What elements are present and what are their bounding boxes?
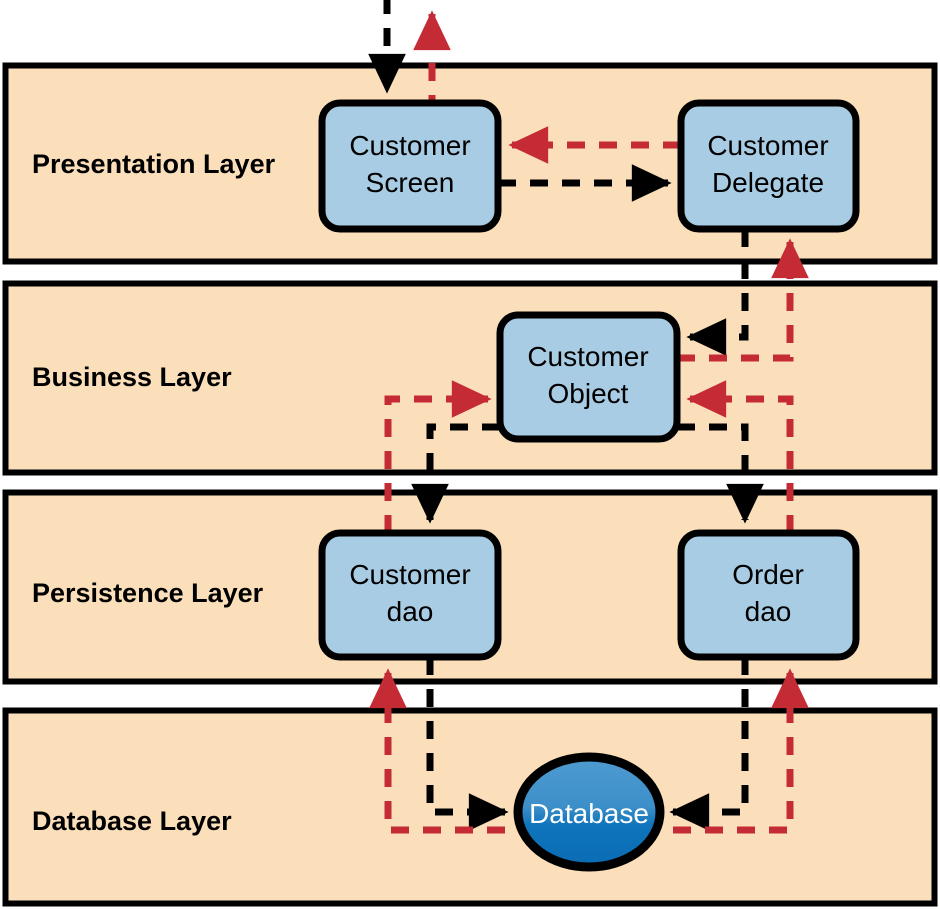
layer-label-persistence: Persistence Layer: [32, 578, 264, 608]
node-label-order-dao-line1: Order: [732, 559, 804, 590]
node-customer-object[interactable]: Customer Object: [500, 315, 677, 439]
node-label-customer-dao-line2: dao: [387, 596, 434, 627]
layered-architecture-diagram: Presentation Layer Business Layer Persis…: [0, 0, 940, 909]
node-label-customer-object-line2: Object: [548, 378, 629, 409]
node-customer-dao[interactable]: Customer dao: [322, 533, 498, 657]
node-order-dao[interactable]: Order dao: [681, 533, 856, 657]
node-customer-delegate[interactable]: Customer Delegate: [681, 103, 856, 229]
node-label-customer-screen-line1: Customer: [349, 130, 470, 161]
node-label-customer-object-line1: Customer: [527, 341, 648, 372]
node-label-customer-dao-line1: Customer: [349, 559, 470, 590]
layer-database[interactable]: Database Layer: [6, 711, 935, 904]
node-label-order-dao-line2: dao: [745, 596, 792, 627]
layer-business[interactable]: Business Layer: [6, 284, 935, 473]
diagram-canvas: Presentation Layer Business Layer Persis…: [0, 0, 940, 909]
node-label-customer-delegate-line1: Customer: [707, 130, 828, 161]
node-label-database: Database: [529, 798, 649, 829]
node-customer-screen[interactable]: Customer Screen: [322, 103, 498, 229]
layer-label-presentation: Presentation Layer: [32, 149, 276, 179]
layer-label-database: Database Layer: [32, 806, 232, 836]
node-label-customer-screen-line2: Screen: [366, 167, 455, 198]
node-database[interactable]: Database: [518, 757, 660, 867]
layer-label-business: Business Layer: [32, 362, 232, 392]
node-label-customer-delegate-line2: Delegate: [712, 167, 824, 198]
